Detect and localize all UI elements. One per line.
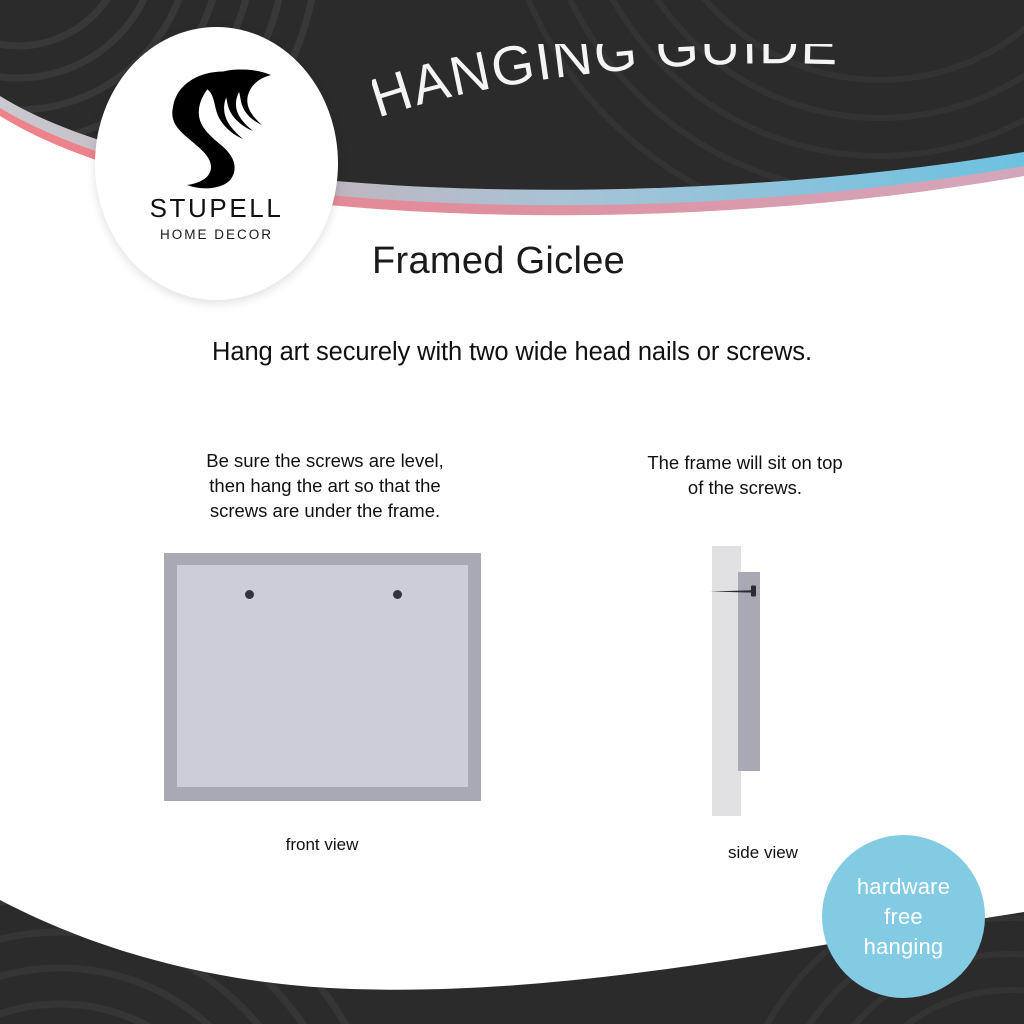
front-view-caption-line-3: screws are under the frame. — [160, 498, 490, 523]
screw-nail-icon — [708, 584, 764, 598]
front-view-label: front view — [163, 835, 481, 855]
front-view-frame-diagram — [164, 553, 481, 801]
front-view-caption-line-2: then hang the art so that the — [160, 473, 490, 498]
brand-logo-badge: STUPELL HOME DECOR — [95, 27, 338, 300]
page-title-text: HANGING GUIDE — [372, 44, 840, 129]
front-view-mat-area — [177, 565, 468, 787]
side-view-caption-line-1: The frame will sit on top — [595, 450, 895, 475]
product-type-title: Framed Giclee — [372, 240, 625, 283]
side-view-label: side view — [663, 843, 863, 863]
screw-dot-right-icon — [393, 590, 402, 599]
hardware-free-hanging-badge: hardware free hanging — [822, 835, 985, 998]
side-view-caption: The frame will sit on top of the screws. — [595, 450, 895, 500]
svg-text:HANGING GUIDE: HANGING GUIDE — [372, 44, 840, 129]
screw-dot-left-icon — [245, 590, 254, 599]
side-view-frame-diagram — [708, 546, 818, 818]
stupell-swoosh-logo-icon — [157, 63, 277, 191]
brand-name: STUPELL — [150, 195, 284, 221]
side-view-frame-strip — [738, 572, 760, 771]
brand-tagline: HOME DECOR — [160, 228, 273, 242]
side-view-caption-line-2: of the screws. — [595, 475, 895, 500]
main-instruction-text: Hang art securely with two wide head nai… — [0, 338, 1024, 367]
hardware-badge-line-1: hardware — [857, 872, 950, 902]
front-view-caption: Be sure the screws are level, then hang … — [160, 448, 490, 523]
hardware-badge-line-3: hanging — [864, 932, 944, 962]
front-view-caption-line-1: Be sure the screws are level, — [160, 448, 490, 473]
hardware-badge-line-2: free — [884, 902, 923, 932]
page-title: HANGING GUIDE — [372, 44, 882, 130]
hanging-guide-page: STUPELL HOME DECOR HANGING GUIDE Framed … — [0, 0, 1024, 1024]
